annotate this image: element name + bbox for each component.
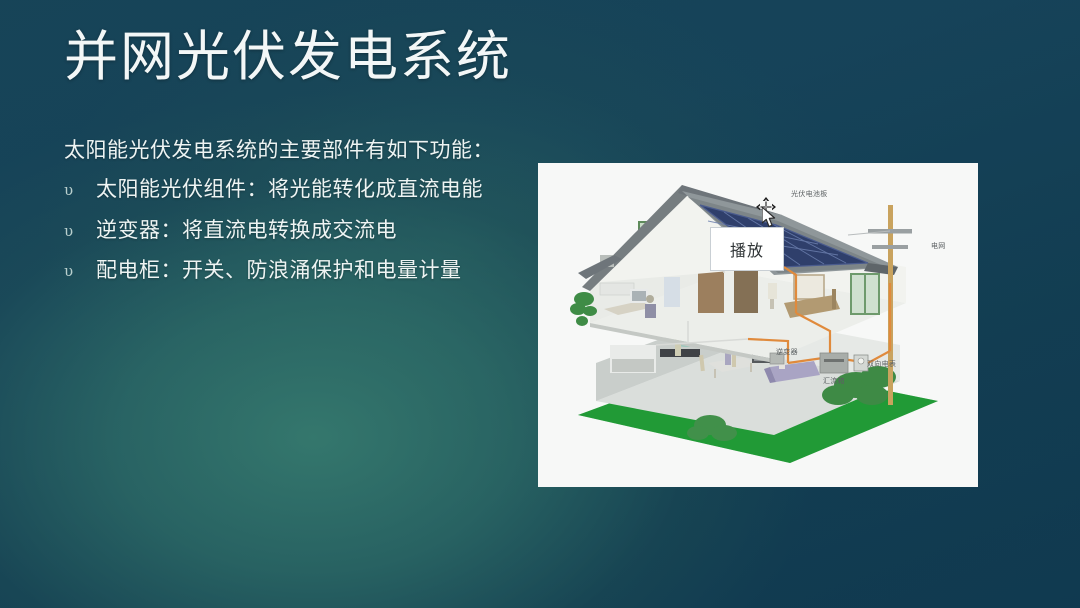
solar-house-illustration[interactable]: 播放 光伏电池板 电网 逆变器 汇流箱 双向电表 (538, 163, 978, 487)
list-item-label: 逆变器：将直流电转换成交流电 (96, 217, 397, 244)
bullet-marker-icon: υ (64, 264, 96, 279)
play-tooltip[interactable]: 播放 (710, 227, 784, 271)
label-inverter: 逆变器 (776, 347, 798, 357)
lead-paragraph: 太阳能光伏发电系统的主要部件有如下功能： (64, 136, 534, 164)
arrow-pointer-icon (762, 207, 778, 229)
list-item-label: 配电柜：开关、防浪涌保护和电量计量 (96, 257, 462, 284)
bullet-marker-icon: υ (64, 183, 96, 198)
body-text-block: 太阳能光伏发电系统的主要部件有如下功能： υ 太阳能光伏组件：将光能转化成直流电… (64, 136, 534, 297)
list-item: υ 配电柜：开关、防浪涌保护和电量计量 (64, 257, 534, 284)
label-combiner-box: 汇流箱 (823, 376, 845, 386)
bullet-marker-icon: υ (64, 224, 96, 239)
label-pv-panel: 光伏电池板 (791, 189, 828, 199)
list-item: υ 逆变器：将直流电转换成交流电 (64, 217, 534, 244)
list-item-label: 太阳能光伏组件：将光能转化成直流电能 (96, 176, 483, 203)
label-bidirectional-meter: 双向电表 (867, 359, 896, 369)
slide-canvas: 并网光伏发电系统 太阳能光伏发电系统的主要部件有如下功能： υ 太阳能光伏组件：… (0, 0, 1080, 608)
label-grid: 电网 (931, 241, 946, 251)
page-title: 并网光伏发电系统 (64, 27, 512, 87)
list-item: υ 太阳能光伏组件：将光能转化成直流电能 (64, 176, 534, 203)
